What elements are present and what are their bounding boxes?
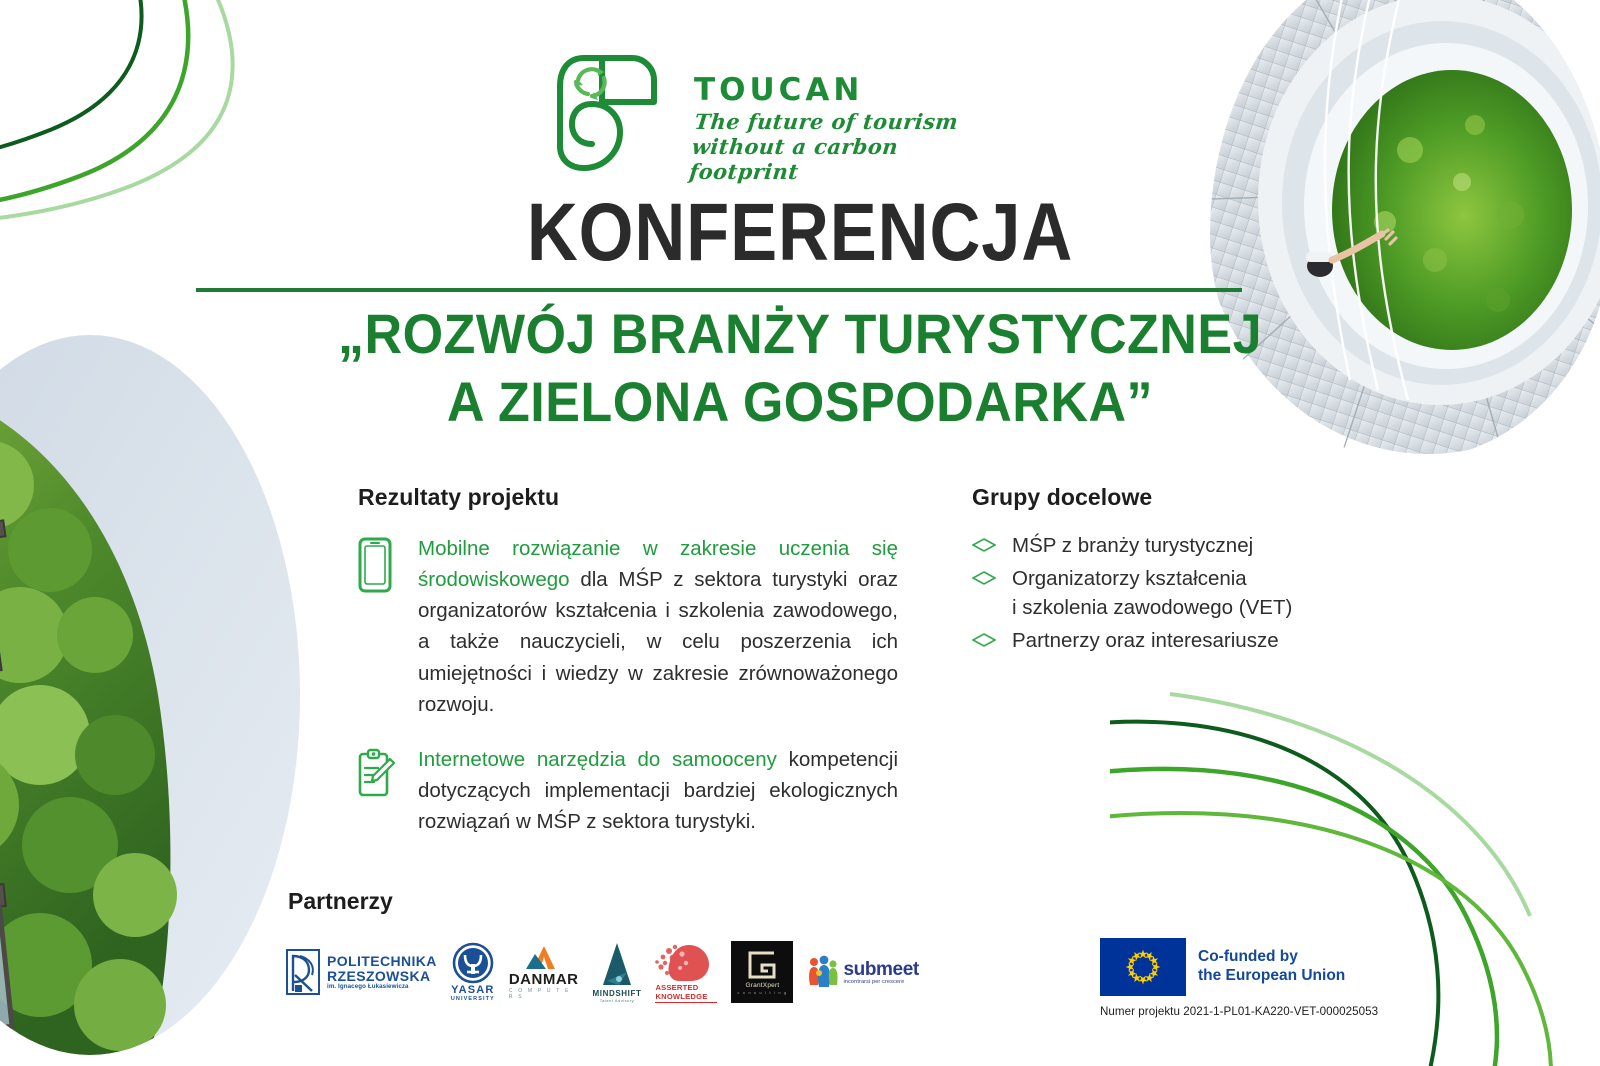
eu-funding-block: Co-funded by the European Union Numer pr… xyxy=(1100,938,1378,1018)
group-item-text: Partnerzy oraz interesariusze xyxy=(1012,626,1279,655)
mindshift-logo: MINDSHIFT Talent Advisory xyxy=(593,936,642,1008)
asserted-knowledge-logo: ASSERTED KNOWLEDGE xyxy=(655,936,717,1008)
result-item-text: Internetowe narzędzia do samooceny kompe… xyxy=(418,744,898,837)
results-heading: Rezultaty projektu xyxy=(358,484,898,511)
result-item: Internetowe narzędzia do samooceny kompe… xyxy=(358,744,898,837)
asserted-knowledge-line-1: ASSERTED KNOWLEDGE xyxy=(655,983,717,1003)
eu-badge-line-2: the European Union xyxy=(1198,967,1345,986)
vertical-garden-facade-photo xyxy=(0,335,300,1055)
group-line-1: Partnerzy oraz interesariusze xyxy=(1012,629,1279,652)
danmar-line-2: C O M P U T E R S xyxy=(509,988,579,1000)
eu-cofunded-badge: Co-funded by the European Union xyxy=(1100,938,1378,996)
submeet-logo: submeet incontrarsi per crescere xyxy=(807,936,918,1008)
yasar-university-logo: YASAR UNIVERSITY xyxy=(451,936,495,1008)
yasar-line-1: YASAR xyxy=(451,984,495,996)
conference-poster: TOUCAN The future of tourism without a c… xyxy=(0,0,1600,1066)
yasar-emblem-icon xyxy=(452,942,494,984)
diamond-bullet-icon xyxy=(972,531,998,557)
submeet-line-1: submeet xyxy=(843,960,918,979)
groups-heading: Grupy docelowe xyxy=(972,484,1292,511)
politechnika-line-3: im. Ignacego Łukasiewicza xyxy=(327,984,437,991)
eu-flag-icon xyxy=(1100,938,1186,996)
danmar-computers-logo: DANMAR C O M P U T E R S xyxy=(509,936,579,1008)
submeet-line-2: incontrarsi per crescere xyxy=(843,979,918,985)
diamond-bullet-icon xyxy=(972,626,998,652)
project-number: Numer projektu 2021-1-PL01-KA220-VET-000… xyxy=(1100,1005,1378,1018)
list-item: Partnerzy oraz interesariusze xyxy=(972,626,1292,655)
grantxpert-line-1: GrantXpert xyxy=(746,982,780,989)
target-groups-section: Grupy docelowe MŚP z branży turystycznej… xyxy=(972,484,1292,659)
toucan-logo: TOUCAN The future of tourism without a c… xyxy=(548,48,968,178)
politechnika-rzeszowska-logo: POLITECHNIKA RZESZOWSKA im. Ignacego Łuk… xyxy=(286,936,437,1008)
mindshift-triangle-icon xyxy=(600,941,634,989)
logo-wordmark: TOUCAN xyxy=(694,72,863,108)
politechnika-line-1: POLITECHNIKA xyxy=(327,954,437,969)
page-title: KONFERENCJA xyxy=(112,192,1488,274)
danmar-peaks-icon xyxy=(524,945,564,971)
result-item-text: Mobilne rozwiązanie w zakresie uczenia s… xyxy=(418,533,898,720)
diamond-bullet-icon xyxy=(972,564,998,590)
list-item: Organizatorzy kształcenia i szkolenia za… xyxy=(972,564,1292,622)
group-line-2: i szkolenia zawodowego (VET) xyxy=(1012,593,1292,622)
toucan-bird-recycle-icon xyxy=(548,48,674,173)
logo-tagline: The future of tourism without a carbon f… xyxy=(688,110,971,184)
logo-tagline-line1: The future of tourism xyxy=(693,109,959,134)
list-item: MŚP z branży turystycznej xyxy=(972,531,1292,560)
title-divider xyxy=(196,288,1242,292)
asserted-knowledge-head-icon xyxy=(655,941,717,983)
mindshift-line-2: Talent Advisory xyxy=(600,998,634,1003)
logo-tagline-line2: without a carbon footprint xyxy=(688,134,899,184)
group-item-text: MŚP z branży turystycznej xyxy=(1012,531,1253,560)
grantxpert-g-icon xyxy=(747,950,777,980)
politechnika-emblem-icon xyxy=(286,949,320,995)
page-subtitle: „ROZWÓJ BRANŻY TURYSTYCZNEJ A ZIELONA GO… xyxy=(56,300,1544,437)
group-line-1: Organizatorzy kształcenia xyxy=(1012,567,1247,590)
grantxpert-consulting-logo: GrantXpert c o n s u l t i n g xyxy=(731,936,793,1008)
result-item: Mobilne rozwiązanie w zakresie uczenia s… xyxy=(358,533,898,720)
mobile-phone-icon xyxy=(358,533,396,720)
group-line-1: MŚP z branży turystycznej xyxy=(1012,534,1253,557)
submeet-people-icon xyxy=(807,955,839,989)
subtitle-line-2: A ZIELONA GOSPODARKA” xyxy=(56,368,1544,436)
eu-badge-line-1: Co-funded by xyxy=(1198,948,1345,967)
yasar-line-2: UNIVERSITY xyxy=(451,996,495,1002)
eu-badge-text: Co-funded by the European Union xyxy=(1198,948,1345,986)
partners-heading: Partnerzy xyxy=(288,888,393,915)
subtitle-line-1: „ROZWÓJ BRANŻY TURYSTYCZNEJ xyxy=(56,300,1544,368)
clipboard-pencil-icon xyxy=(358,744,396,837)
project-results-section: Rezultaty projektu Mobilne rozwiązanie w… xyxy=(358,484,898,861)
politechnika-line-2: RZESZOWSKA xyxy=(327,969,437,984)
group-item-text: Organizatorzy kształcenia i szkolenia za… xyxy=(1012,564,1292,622)
result-highlight: Internetowe narzędzia do samooceny xyxy=(418,748,789,771)
danmar-line-1: DANMAR xyxy=(509,971,579,988)
partner-logos: POLITECHNIKA RZESZOWSKA im. Ignacego Łuk… xyxy=(286,930,886,1008)
mindshift-line-1: MINDSHIFT xyxy=(593,989,642,998)
grantxpert-line-2: c o n s u l t i n g xyxy=(738,991,788,995)
